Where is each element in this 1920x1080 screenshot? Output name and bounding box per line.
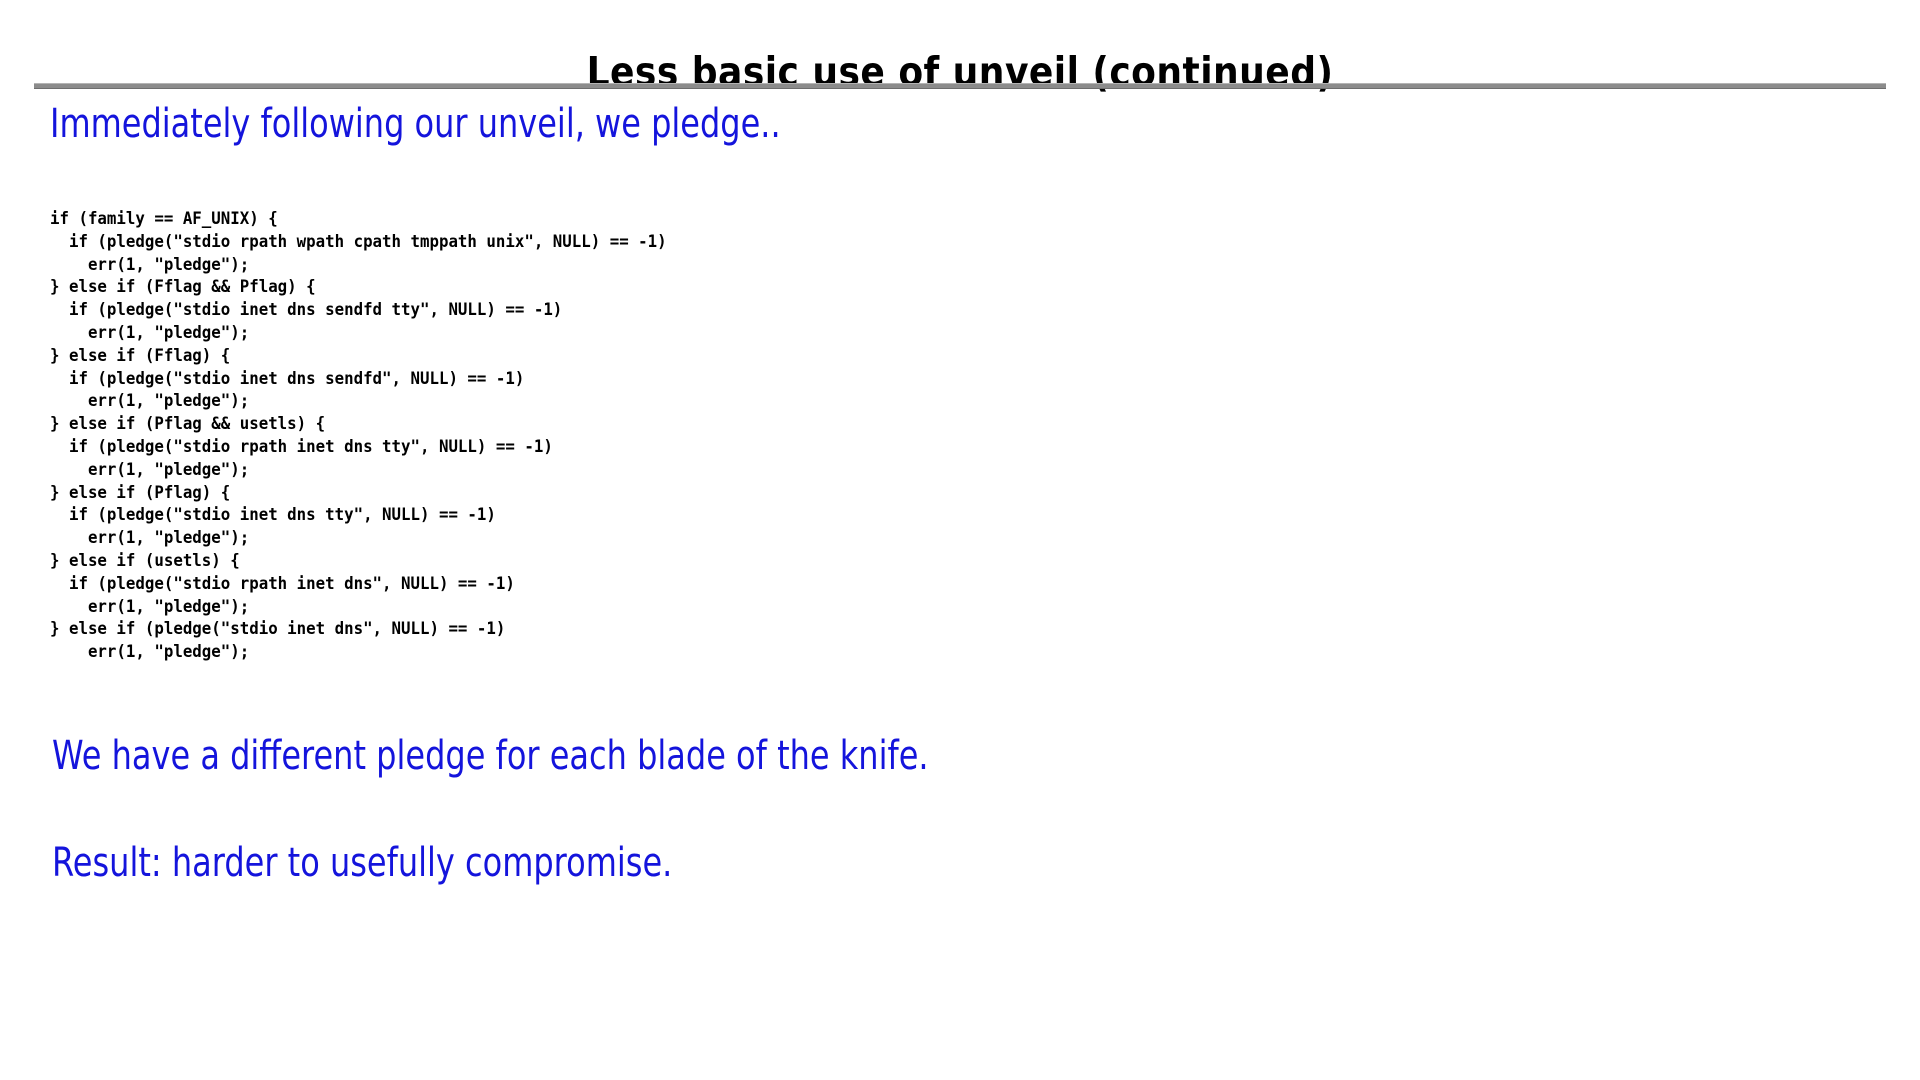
lead-paragraph: Immediately following our unveil, we ple… [50,104,781,144]
code-line: if (pledge("stdio rpath wpath cpath tmpp… [50,231,667,254]
code-line: } else if (Pflag && usetls) { [50,413,667,436]
title-divider [34,83,1886,89]
code-line: if (pledge("stdio inet dns sendfd", NULL… [50,368,667,391]
code-line: err(1, "pledge"); [50,390,667,413]
code-line: err(1, "pledge"); [50,254,667,277]
code-line: if (pledge("stdio inet dns sendfd tty", … [50,299,667,322]
code-line: err(1, "pledge"); [50,459,667,482]
code-line: if (pledge("stdio rpath inet dns tty", N… [50,436,667,459]
code-line: err(1, "pledge"); [50,527,667,550]
closing-paragraph: We have a different pledge for each blad… [52,736,929,776]
code-line: } else if (Pflag) { [50,482,667,505]
code-line: if (pledge("stdio inet dns tty", NULL) =… [50,504,667,527]
code-line: err(1, "pledge"); [50,596,667,619]
code-line: } else if (Fflag) { [50,345,667,368]
result-paragraph: Result: harder to usefully compromise. [52,843,672,883]
code-line: if (family == AF_UNIX) { [50,208,667,231]
code-line: err(1, "pledge"); [50,322,667,345]
code-line: } else if (Fflag && Pflag) { [50,276,667,299]
code-line: if (pledge("stdio rpath inet dns", NULL)… [50,573,667,596]
code-block: if (family == AF_UNIX) { if (pledge("std… [50,208,667,664]
code-line: err(1, "pledge"); [50,641,667,664]
code-line: } else if (pledge("stdio inet dns", NULL… [50,618,667,641]
slide-canvas: Less basic use of unveil (continued) Imm… [0,0,1920,1080]
code-line: } else if (usetls) { [50,550,667,573]
